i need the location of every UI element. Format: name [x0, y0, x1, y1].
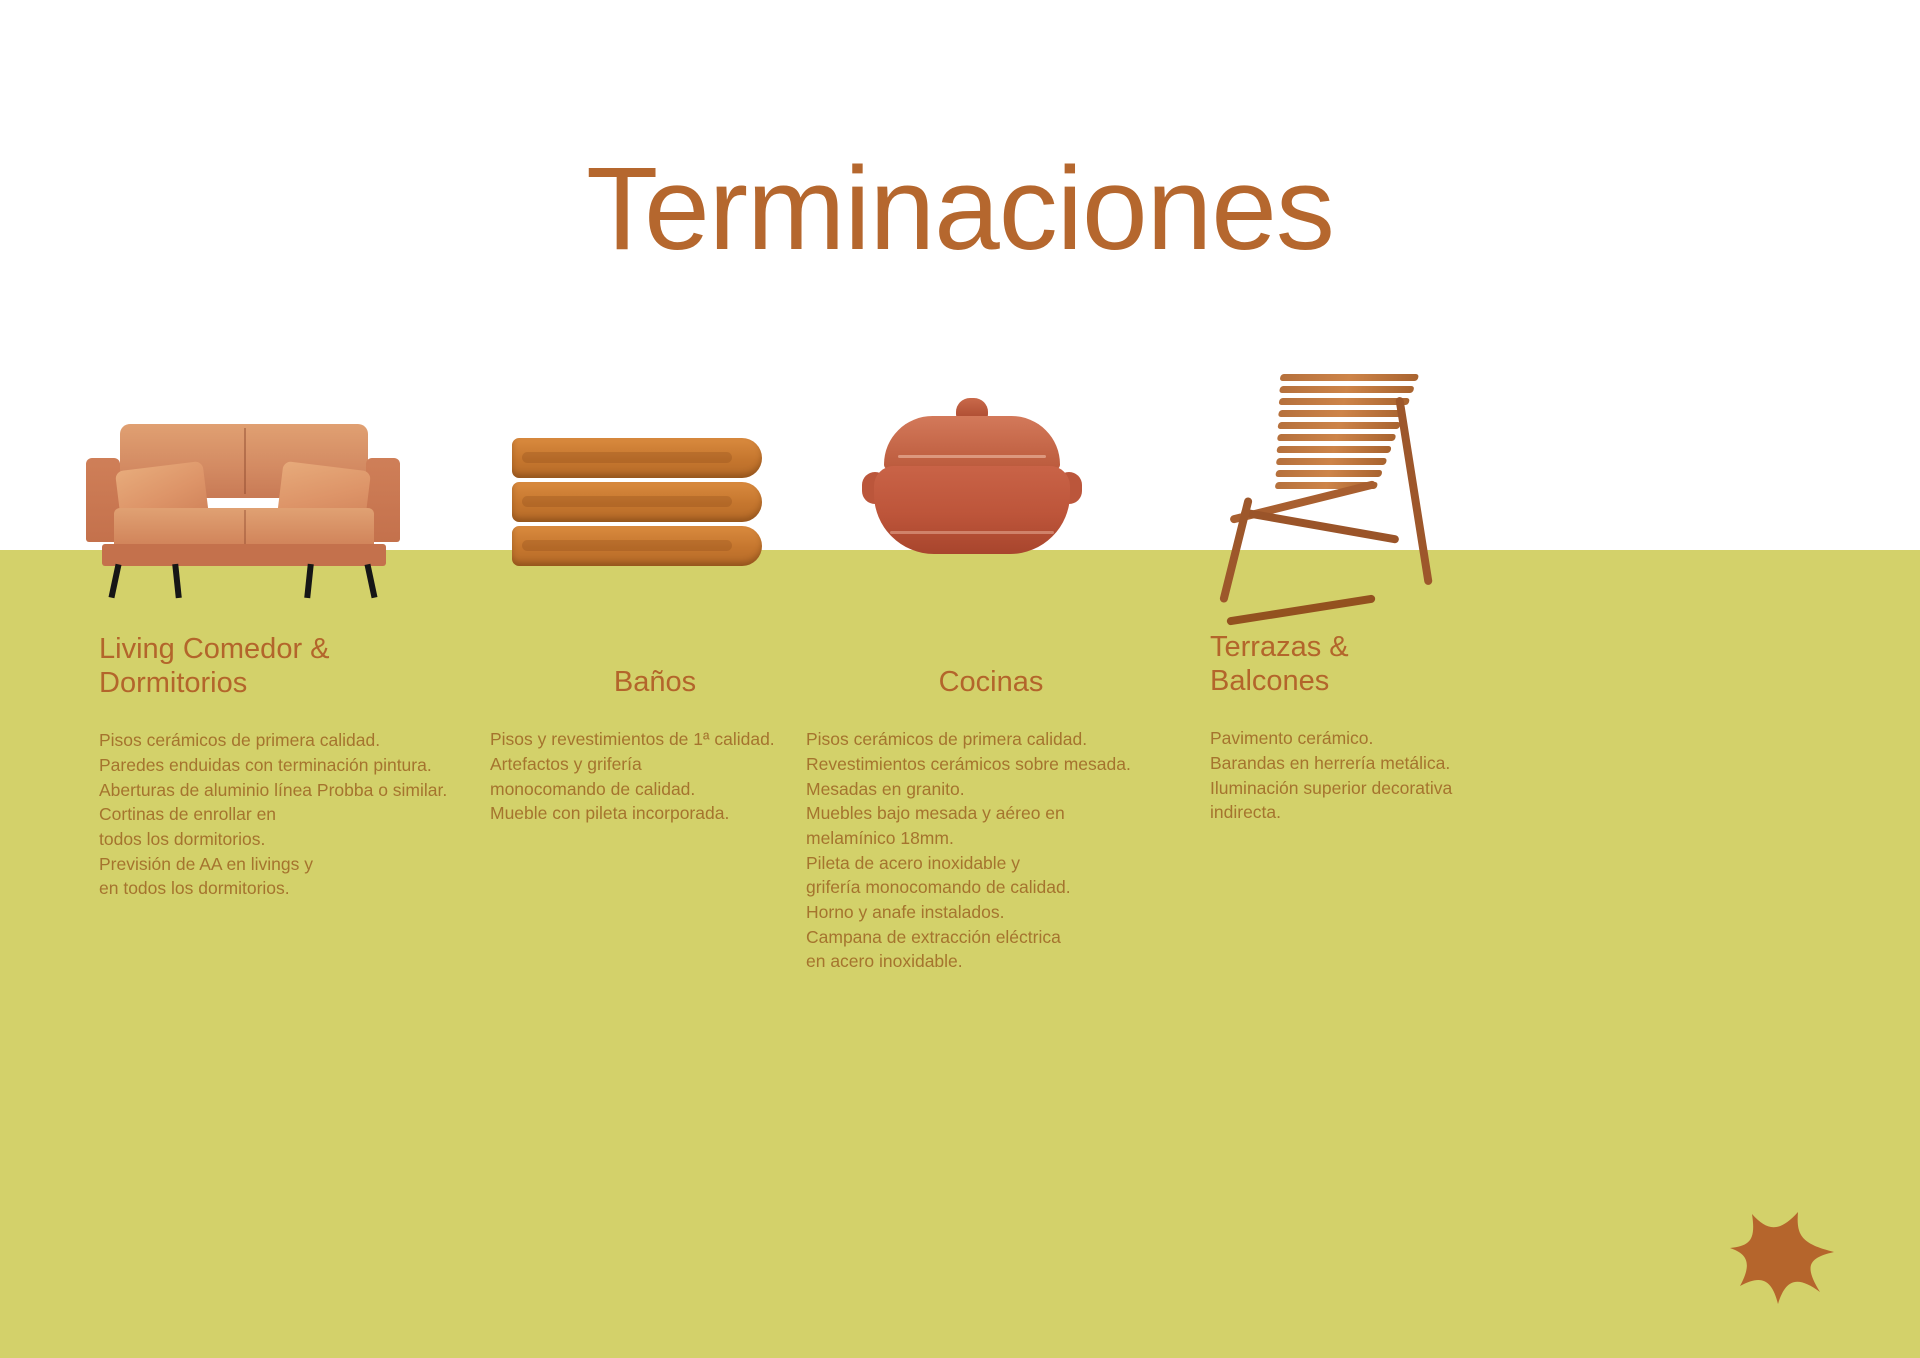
sofa-leg — [365, 564, 378, 599]
sofa-base — [102, 544, 386, 566]
section-living-comedor-dormitorios: Living Comedor & Dormitorios Pisos cerám… — [99, 632, 499, 901]
chair-slat — [1277, 422, 1400, 429]
section-body-terrazas: Pavimento cerámico. Barandas en herrería… — [1210, 726, 1540, 825]
slide-canvas: Terminaciones — [0, 0, 1920, 1358]
deck-chair-image — [1210, 370, 1440, 620]
towel-item — [512, 526, 762, 566]
page-title: Terminaciones — [0, 148, 1920, 272]
pot-body — [874, 466, 1070, 554]
section-heading-terrazas: Terrazas & Balcones — [1210, 630, 1540, 698]
chair-slat — [1279, 374, 1418, 381]
chair-slat — [1278, 398, 1409, 405]
towel-item — [512, 438, 762, 478]
towel-item — [512, 482, 762, 522]
chair-seat-rail-back — [1241, 508, 1400, 544]
chair-backrest — [1248, 370, 1426, 500]
sofa-leg — [172, 564, 182, 598]
product-image-stage — [0, 360, 1920, 620]
section-terrazas-balcones: Terrazas & Balcones Pavimento cerámico. … — [1210, 630, 1540, 825]
sofa-leg — [109, 564, 122, 599]
section-body-banos: Pisos y revestimientos de 1ª calidad. Ar… — [490, 727, 820, 826]
sofa-leg — [304, 564, 314, 598]
chair-slat — [1279, 386, 1414, 393]
six-point-burst-icon — [1712, 1200, 1842, 1310]
section-body-cocinas: Pisos cerámicos de primera calidad. Reve… — [806, 727, 1176, 974]
chair-leg-front — [1219, 497, 1253, 604]
chair-slat — [1278, 410, 1405, 417]
section-heading-banos: Baños — [490, 665, 820, 699]
section-heading-living: Living Comedor & Dormitorios — [99, 632, 499, 700]
section-body-living: Pisos cerámicos de primera calidad. Pare… — [99, 728, 499, 901]
clay-pot-image — [862, 398, 1082, 568]
section-heading-cocinas: Cocinas — [806, 665, 1176, 699]
chair-slat — [1276, 458, 1387, 465]
chair-slat — [1277, 434, 1396, 441]
section-banos: Baños Pisos y revestimientos de 1ª calid… — [490, 665, 820, 826]
sofa-image — [78, 424, 408, 579]
chair-slat — [1275, 470, 1382, 477]
towels-image — [512, 438, 762, 568]
pot-lid — [884, 416, 1060, 470]
chair-slat — [1276, 446, 1391, 453]
section-cocinas: Cocinas Pisos cerámicos de primera calid… — [806, 665, 1176, 974]
